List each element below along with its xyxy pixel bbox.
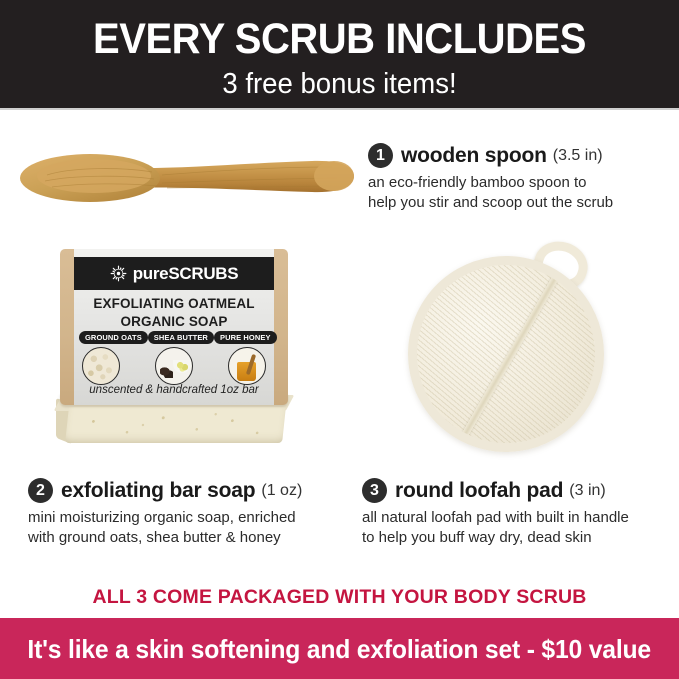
item-3-description: all natural loofah pad with built in han… <box>362 508 672 549</box>
soap-bar-front <box>65 407 286 443</box>
infographic-page: EVERY SCRUB INCLUDES 3 free bonus items! <box>0 0 679 679</box>
item-1-description-line-1: an eco-friendly bamboo spoon to <box>368 173 673 193</box>
item-1-title: wooden spoon <box>401 144 547 168</box>
item-2-heading: 2 exfoliating bar soap (1 oz) <box>28 478 338 503</box>
page-title: EVERY SCRUB INCLUDES <box>24 18 655 61</box>
item-3-heading: 3 round loofah pad (3 in) <box>362 478 672 503</box>
item-3-description-line-1: all natural loofah pad with built in han… <box>362 508 672 528</box>
item-1-heading: 1 wooden spoon (3.5 in) <box>368 143 673 168</box>
mandala-icon <box>110 265 127 282</box>
shea-butter-photo-icon <box>155 347 193 385</box>
wrapped-soap-bar-image: pureSCRUBS EXFOLIATING OATMEAL ORGANIC S… <box>48 243 300 458</box>
item-1-number-badge: 1 <box>368 143 393 168</box>
ingredient-pill-shea: SHEA BUTTER <box>148 331 214 344</box>
item-2-title: exfoliating bar soap <box>61 479 255 503</box>
value-banner: It's like a skin softening and exfoliati… <box>0 618 679 679</box>
soap-label-brand-bar: pureSCRUBS <box>74 257 274 290</box>
packaging-tagline: ALL 3 COME PACKAGED WITH YOUR BODY SCRUB <box>0 588 679 608</box>
bamboo-spoon-image <box>12 145 357 213</box>
value-banner-text: It's like a skin softening and exfoliati… <box>28 636 652 662</box>
soap-product-line-1: EXFOLIATING OATMEAL <box>74 295 274 313</box>
item-1-description-line-2: help you stir and scoop out the scrub <box>368 193 673 213</box>
ingredient-pill-row: GROUND OATS SHEA BUTTER PURE HONEY <box>79 331 269 344</box>
item-2-description-line-2: with ground oats, shea butter & honey <box>28 528 338 548</box>
loofah-pad-body <box>395 243 616 464</box>
item-3-text-block: 3 round loofah pad (3 in) all natural lo… <box>362 478 672 549</box>
item-1-text-block: 1 wooden spoon (3.5 in) an eco-friendly … <box>368 143 673 214</box>
item-3-number-badge: 3 <box>362 478 387 503</box>
ingredient-pill-oats: GROUND OATS <box>79 331 148 344</box>
soap-product-line-2: ORGANIC SOAP <box>74 313 274 331</box>
ingredient-pill-honey: PURE HONEY <box>214 331 277 344</box>
soap-brand-name: pureSCRUBS <box>133 265 239 282</box>
page-subtitle: 3 free bonus items! <box>17 70 662 99</box>
round-loofah-pad-image <box>402 240 637 460</box>
ingredient-swatch-row <box>82 347 266 385</box>
item-1-quantity: (3.5 in) <box>553 147 603 165</box>
oats-photo-icon <box>82 347 120 385</box>
item-2-description-line-1: mini moisturizing organic soap, enriched <box>28 508 338 528</box>
item-2-quantity: (1 oz) <box>261 482 302 500</box>
item-1-description: an eco-friendly bamboo spoon to help you… <box>368 173 673 214</box>
soap-product-name: EXFOLIATING OATMEAL ORGANIC SOAP <box>74 295 274 331</box>
item-2-number-badge: 2 <box>28 478 53 503</box>
item-3-title: round loofah pad <box>395 479 563 503</box>
item-2-description: mini moisturizing organic soap, enriched… <box>28 508 338 549</box>
item-3-description-line-2: to help you buff way dry, dead skin <box>362 528 672 548</box>
honey-jar-photo-icon <box>228 347 266 385</box>
soap-label-footnote: unscented & handcrafted 1oz bar <box>74 385 274 397</box>
header-divider <box>0 108 679 110</box>
header-banner: EVERY SCRUB INCLUDES 3 free bonus items! <box>0 0 679 108</box>
item-3-quantity: (3 in) <box>569 482 605 500</box>
item-2-text-block: 2 exfoliating bar soap (1 oz) mini moist… <box>28 478 338 549</box>
